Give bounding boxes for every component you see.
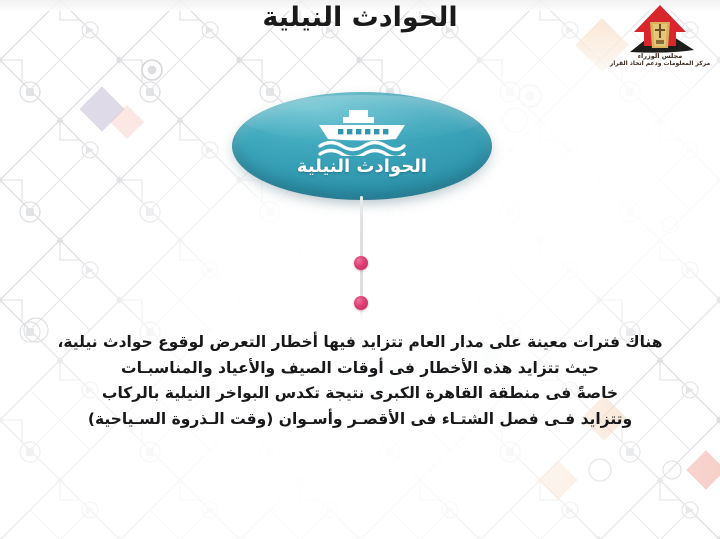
idsc-logo-icon (608, 2, 712, 54)
connector-line (358, 196, 364, 322)
body-text: هناك فترات معينة على مدار العام تتزايد ف… (40, 330, 680, 432)
node-label: الحوادث النيلية (232, 156, 492, 177)
topic-node[interactable]: الحوادث النيلية (232, 92, 492, 204)
body-line-4: وتتزايد فـى فصل الشتـاء فى الأقصـر وأسـو… (40, 407, 680, 433)
connector-dot-2 (354, 296, 368, 310)
connector-dot-1 (354, 256, 368, 270)
logo-caption-line1: مجلس الوزراء (608, 52, 712, 60)
ship-icon (316, 108, 408, 156)
logo-caption: مجلس الوزراء مركز المعلومات ودعم اتخاذ ا… (608, 52, 712, 68)
body-line-3: خاصةً فى منطقة القاهرة الكبرى نتيجة تكدس… (40, 381, 680, 407)
logo-caption-line2: مركز المعلومات ودعم اتخاذ القرار (608, 60, 712, 68)
node-ellipse[interactable]: الحوادث النيلية (232, 92, 492, 200)
organization-logo: مجلس الوزراء مركز المعلومات ودعم اتخاذ ا… (608, 2, 712, 76)
body-line-2: حيث تتزايد هذه الأخطار فى أوقات الصيف وا… (40, 356, 680, 382)
body-line-1: هناك فترات معينة على مدار العام تتزايد ف… (40, 330, 680, 356)
slide-canvas: الحوادث النيلية مجلس الوزراء مركز المعلو… (0, 0, 720, 539)
